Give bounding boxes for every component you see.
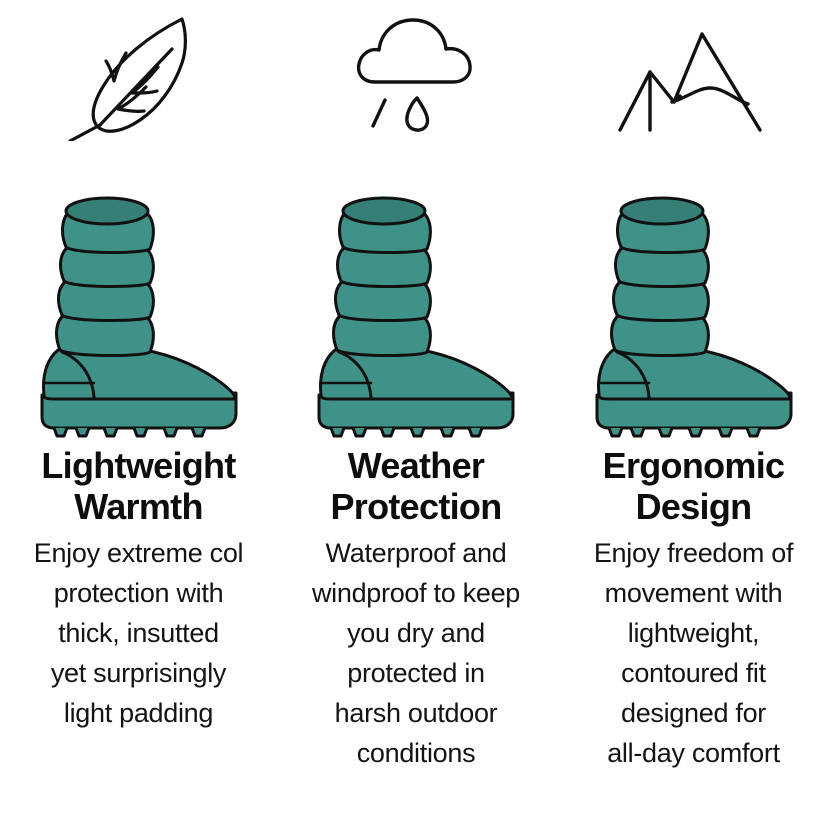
body-line: Enjoy extreme col [4,533,273,573]
body-line: all-day comfort [559,733,828,773]
body-line: you dry and [282,613,551,653]
body-line: protection with [4,573,273,613]
body-line: light padding [4,693,273,733]
body-line: lightweight, [559,613,828,653]
body-line: contoured fit [559,653,828,693]
boot-illustration [0,145,277,445]
body-line: Enjoy freedom of [559,533,828,573]
feature-column-lightweight-warmth: Lightweight Warmth Enjoy extreme col pro… [0,0,277,832]
heading-line-2: Warmth [2,486,275,527]
body-line: thick, insutted [4,613,273,653]
boot-illustration [555,145,832,445]
body-line: conditions [282,733,551,773]
body-line: protected in [282,653,551,693]
body-line: Waterproof and [282,533,551,573]
mountain-icon [555,0,832,145]
heading-line-1: Lightweight [41,445,235,486]
boot-illustration [278,145,555,445]
feature-heading: Weather Protection [278,445,555,527]
body-line: harsh outdoor [282,693,551,733]
heading-line-1: Weather [348,445,484,486]
feather-icon [0,0,277,145]
heading-line-2: Design [557,486,830,527]
body-line: windproof to keep [282,573,551,613]
feature-body-text: Enjoy freedom of movement with lightweig… [555,533,832,773]
feature-heading: Lightweight Warmth [0,445,277,527]
feature-column-weather-protection: Weather Protection Waterproof and windpr… [278,0,555,832]
feature-body-text: Enjoy extreme col protection with thick,… [0,533,277,733]
feature-body-text: Waterproof and windproof to keep you dry… [278,533,555,773]
body-line: movement with [559,573,828,613]
body-line: yet surprisingly [4,653,273,693]
body-line: designed for [559,693,828,733]
rain-cloud-icon [278,0,555,145]
boot-features-infographic: Lightweight Warmth Enjoy extreme col pro… [0,0,832,832]
heading-line-2: Protection [280,486,553,527]
heading-line-1: Ergonomic [603,445,785,486]
feature-heading: Ergonomic Design [555,445,832,527]
feature-column-ergonomic-design: Ergonomic Design Enjoy freedom of moveme… [555,0,832,832]
